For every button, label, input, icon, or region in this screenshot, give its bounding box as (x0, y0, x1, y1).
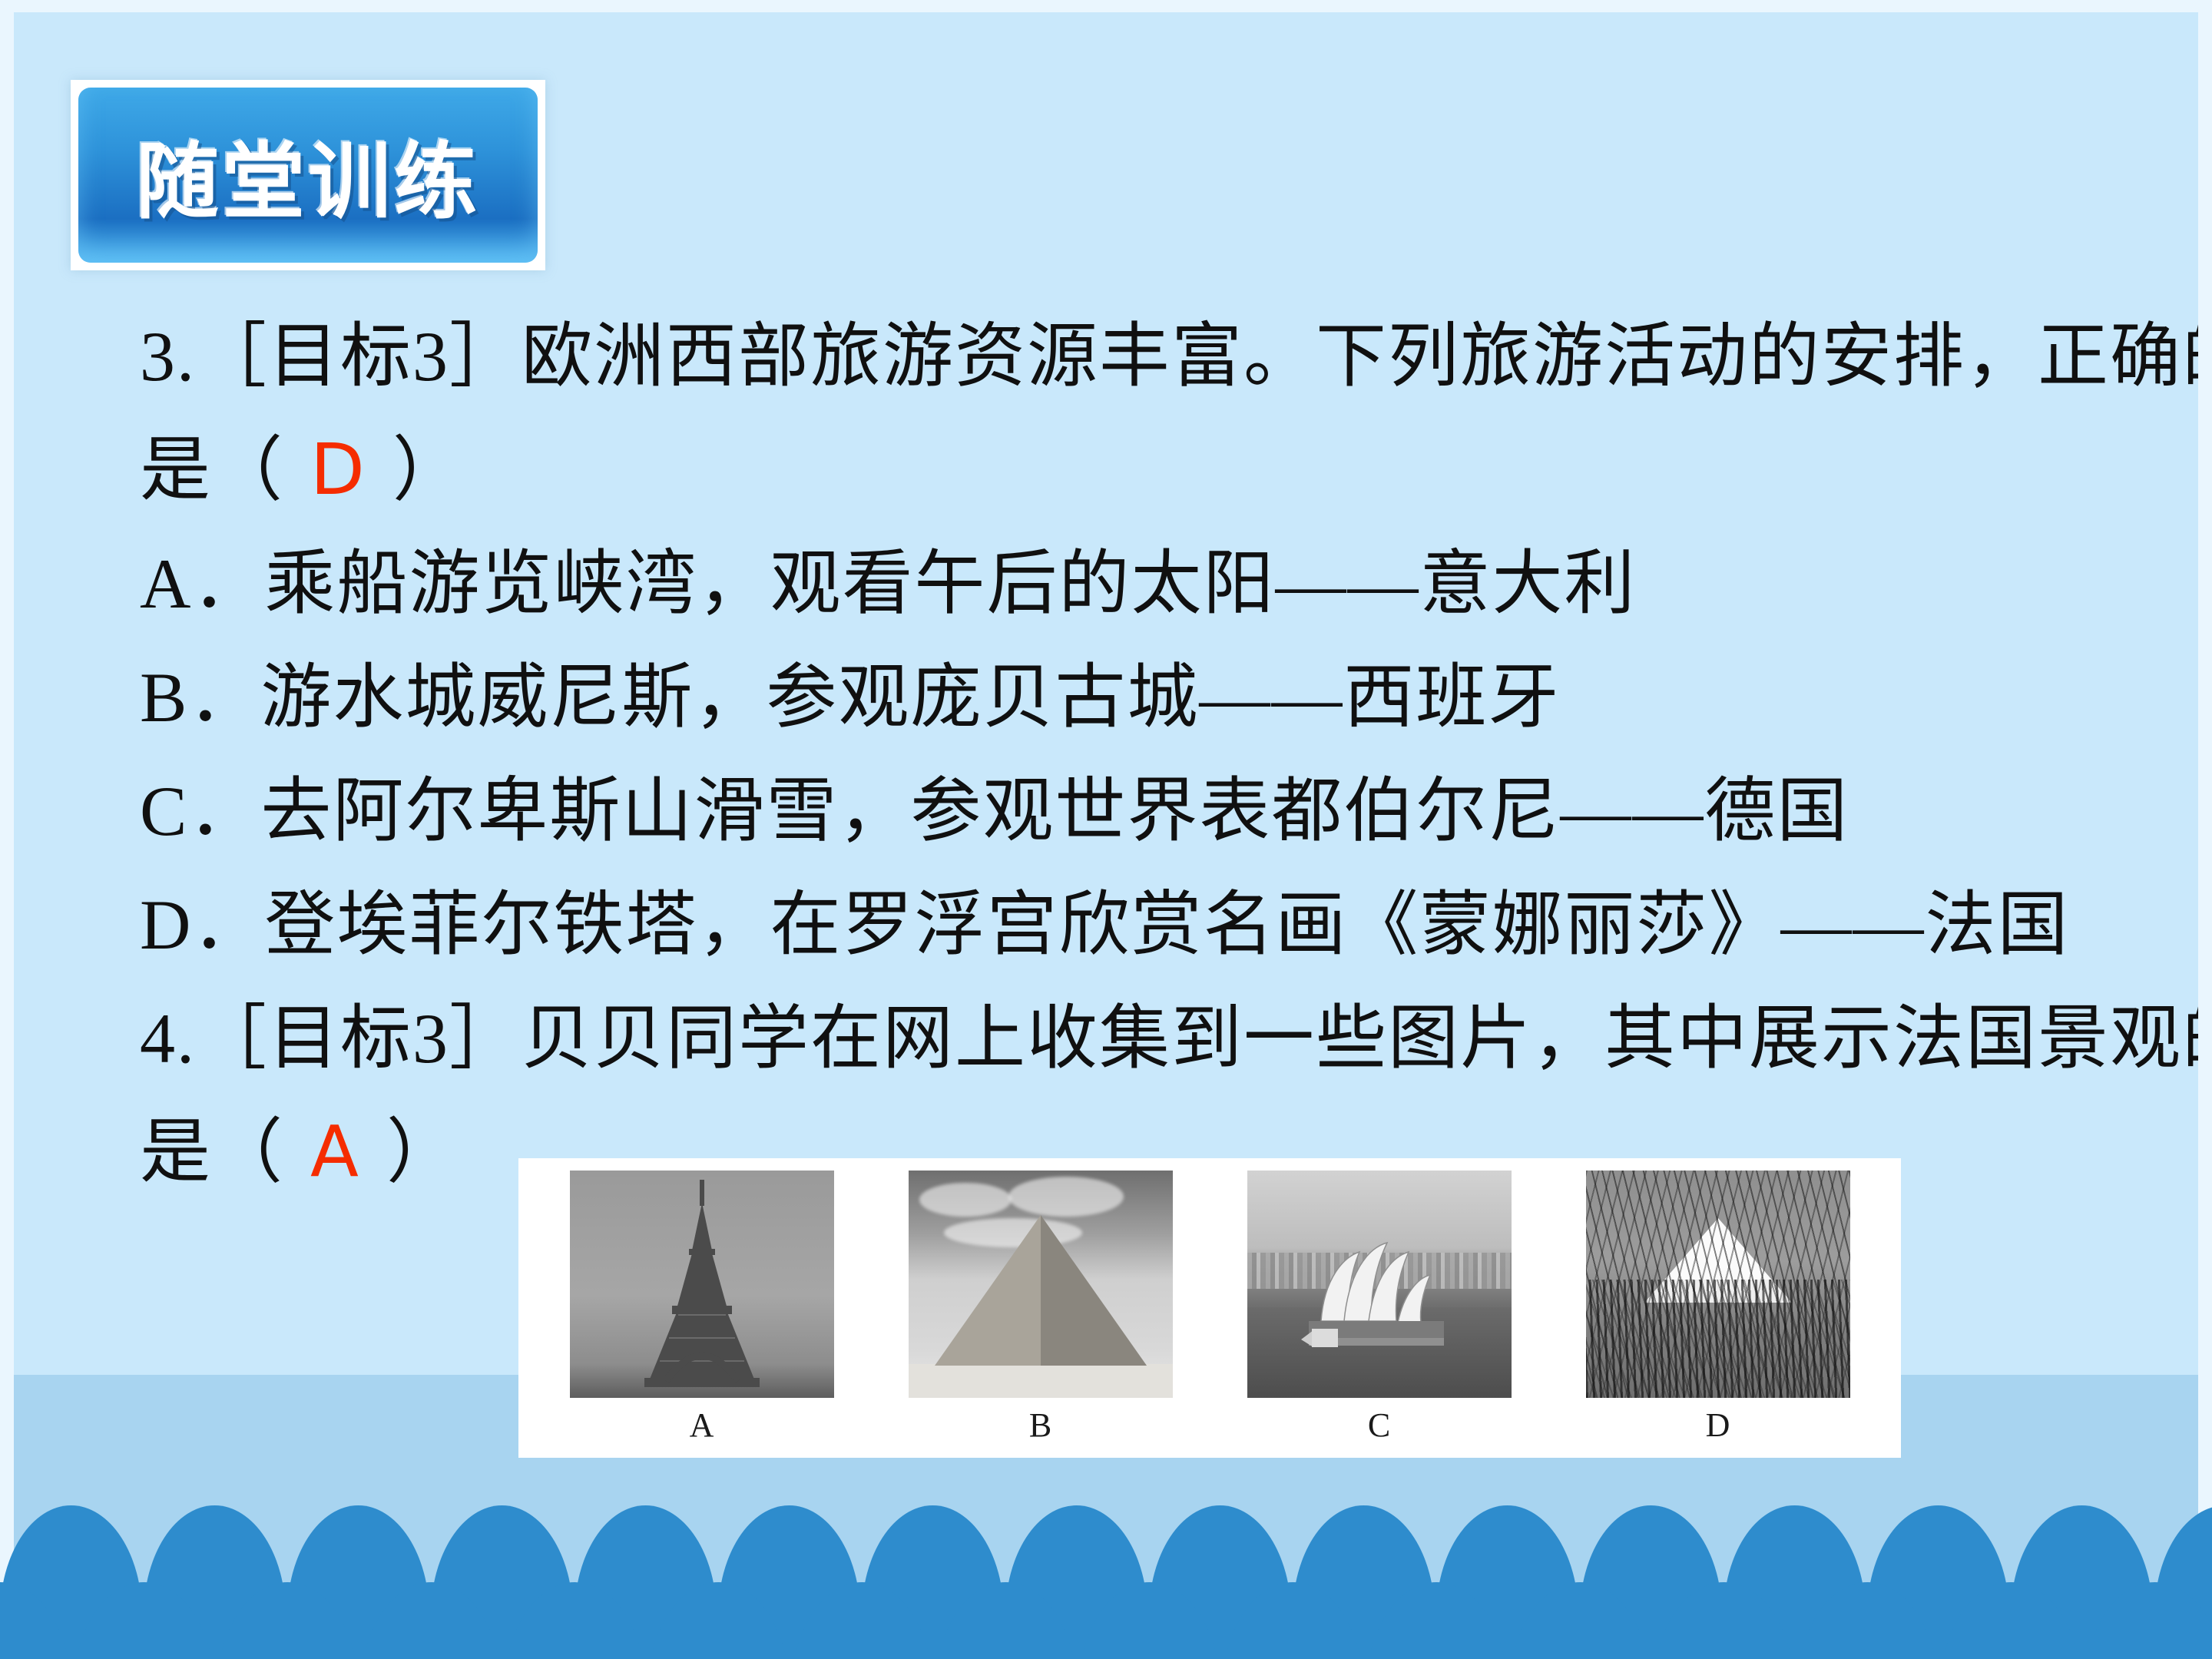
pyramid-shadow (1041, 1215, 1147, 1366)
scallop-shape (1796, 1582, 1939, 1659)
scallop-shape (73, 1582, 215, 1659)
question3-answer-value: D (284, 429, 392, 511)
scallop-shape (1078, 1582, 1220, 1659)
scallop-shape (1222, 1582, 1364, 1659)
question4-photo-label-c: C (1368, 1409, 1390, 1442)
scallop-shape (0, 1582, 71, 1659)
question4-answer-suffix: ） (386, 1113, 459, 1191)
question4-answer-prefix: 是（ (140, 1113, 284, 1191)
section-title-badge: 随堂训练 (71, 80, 545, 270)
section-title-label: 随堂训练 (136, 115, 480, 235)
desert-ground (909, 1364, 1173, 1398)
scallop-shape (1653, 1582, 1795, 1659)
mount-fuji-photo (1586, 1171, 1850, 1398)
slide-border-top (0, 0, 2212, 12)
question4-photo-label-a: A (690, 1409, 714, 1442)
question4-photo-cell-a: A (548, 1171, 856, 1442)
slide-canvas: 随堂训练 3.［目标3］欧洲西部旅游资源丰富。下列旅游活动的安排，正确的 是（D… (0, 0, 2212, 1659)
question3-answer-line: 是（D） (0, 413, 2212, 527)
cloud-shape (1008, 1177, 1124, 1217)
question3-stem-line1: 3.［目标3］欧洲西部旅游资源丰富。下列旅游活动的安排，正确的 (0, 300, 2212, 413)
question4-photo-row: A B (532, 1171, 1887, 1401)
eiffel-tower-photo (570, 1171, 834, 1398)
cloud-shape (919, 1183, 1012, 1217)
scallop-shape (1366, 1582, 1508, 1659)
scallop-shape (935, 1582, 1077, 1659)
scallop-row-lower (0, 1582, 2141, 1659)
scallop-shape (217, 1582, 359, 1659)
question4-photo-cell-b: B (887, 1171, 1194, 1442)
section-title-badge-inner: 随堂训练 (78, 88, 538, 263)
question4-answer-value: A (284, 1111, 386, 1193)
slide-border-left (0, 0, 14, 1659)
question3-answer-suffix: ） (392, 431, 465, 509)
scallop-shape (360, 1582, 502, 1659)
scallop-shape (504, 1582, 646, 1659)
question4-photo-label-d: D (1706, 1409, 1730, 1442)
question3-option-d: D．登埃菲尔铁塔，在罗浮宫欣赏名画《蒙娜丽莎》——法国 (0, 868, 2212, 982)
foreground-brush (1586, 1280, 1850, 1398)
scallop-shape (1509, 1582, 1651, 1659)
sydney-opera-house-photo (1247, 1171, 1512, 1398)
question4-photo-cell-d: D (1565, 1171, 1872, 1442)
question3-option-b: B．游水城威尼斯，参观庞贝古城——西班牙 (0, 641, 2212, 754)
scallop-shape (647, 1582, 790, 1659)
scallop-shape (791, 1582, 933, 1659)
question4-photo-label-b: B (1029, 1409, 1051, 1442)
question4-photo-strip: A B (518, 1158, 1901, 1458)
slide-border-right (2198, 0, 2212, 1659)
opera-house-icon (1247, 1171, 1512, 1398)
question4-photo-cell-c: C (1226, 1171, 1533, 1442)
pyramid-photo (909, 1171, 1173, 1398)
eiffel-tower-icon (629, 1180, 775, 1387)
question4-stem-line1: 4.［目标3］贝贝同学在网上收集到一些图片，其中展示法国景观的 (0, 982, 2212, 1095)
scallop-shape (1940, 1582, 2082, 1659)
question3-answer-prefix: 是（ (140, 431, 284, 509)
question3-option-a: A．乘船游览峡湾，观看午后的太阳——意大利 (0, 527, 2212, 641)
question3-option-c: C．去阿尔卑斯山滑雪，参观世界表都伯尔尼——德国 (0, 754, 2212, 868)
questions-container: 3.［目标3］欧洲西部旅游资源丰富。下列旅游活动的安排，正确的 是（D） A．乘… (0, 300, 2212, 1209)
